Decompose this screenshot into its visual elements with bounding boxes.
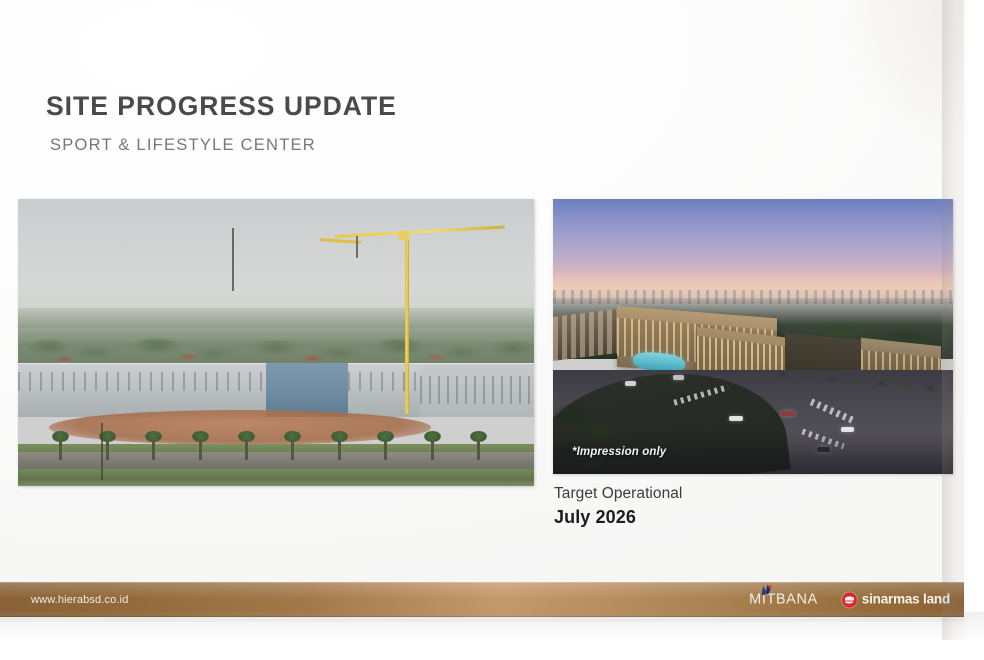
tower-crane-mast (405, 233, 409, 414)
utility-pole (232, 228, 234, 291)
grass-strip-lower (18, 469, 534, 486)
page-title: SITE PROGRESS UPDATE (46, 92, 397, 121)
sinarmas-land-logo: sinarmas land (842, 592, 950, 607)
slide-canvas: SITE PROGRESS UPDATE SPORT & LIFESTYLE C… (0, 0, 964, 622)
tower-crane-hoist-line (356, 236, 358, 258)
page-subtitle: SPORT & LIFESTYLE CENTER (50, 136, 397, 154)
title-block: SITE PROGRESS UPDATE SPORT & LIFESTYLE C… (46, 92, 397, 154)
sinarmas-badge-icon (842, 592, 857, 607)
vehicle (673, 375, 684, 380)
vehicle (729, 416, 743, 421)
vehicle (625, 381, 636, 386)
sinarmas-wordmark: sinarmas land (862, 593, 950, 607)
slide-root: SITE PROGRESS UPDATE SPORT & LIFESTYLE C… (0, 0, 984, 660)
architectural-rendering: *Impression only (553, 199, 953, 474)
palm-tree (291, 438, 294, 460)
construction-site-aerial-photo (18, 199, 534, 486)
street-light-pole (101, 423, 103, 480)
palm-tree (431, 438, 434, 460)
palm-tree (152, 438, 155, 460)
target-operational-block: Target Operational July 2026 (554, 484, 682, 529)
palm-tree (59, 438, 62, 460)
palm-tree (106, 438, 109, 460)
palm-tree (338, 438, 341, 460)
palm-tree (384, 438, 387, 460)
palm-tree (199, 438, 202, 460)
mitbana-flame-icon (760, 584, 773, 595)
vehicle (781, 411, 795, 416)
target-operational-date: July 2026 (554, 507, 682, 529)
corner-fade-decoration (814, 0, 964, 190)
construction-photo-content (18, 199, 534, 486)
target-operational-label: Target Operational (554, 484, 682, 503)
palm-tree (477, 438, 480, 460)
footer-bar: www.hierabsd.co.id MITBANA sinarmas land (0, 582, 964, 617)
footer-logo-group: MITBANA sinarmas land (749, 592, 950, 607)
mitbana-logo: MITBANA (749, 592, 818, 607)
tower-crane-cab (399, 231, 409, 240)
palm-tree (245, 438, 248, 460)
footer-website-url[interactable]: www.hierabsd.co.id (31, 594, 128, 606)
impression-only-caption: *Impression only (572, 446, 666, 458)
rendering-content: *Impression only (553, 199, 953, 474)
